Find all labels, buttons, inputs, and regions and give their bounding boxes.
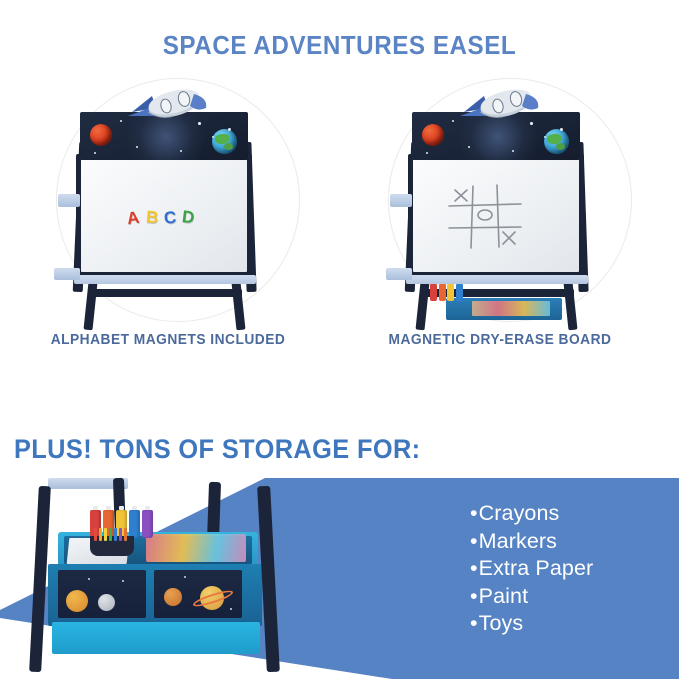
easel-hinge-lower [54, 268, 80, 280]
supplies-strip [472, 301, 550, 316]
storage-bin [154, 570, 242, 618]
bullet-icon: • [470, 611, 478, 635]
crayon [94, 528, 97, 541]
bullet-icon: • [470, 556, 478, 580]
star-icon [122, 580, 124, 582]
red-planet-icon [422, 124, 444, 146]
dry-erase-board: ABCD [81, 158, 247, 272]
star-icon [468, 146, 470, 148]
storage-items-list: •Crayons •Markers •Extra Paper •Paint •T… [470, 500, 679, 638]
dry-erase-board [413, 158, 579, 272]
table-lower-panel [52, 622, 260, 654]
list-item-label: Extra Paper [479, 556, 594, 580]
board-frame [408, 154, 584, 278]
list-item-label: Markers [479, 529, 557, 553]
crayon [119, 528, 122, 541]
star-icon [230, 608, 232, 610]
paint-bottles [430, 284, 464, 306]
magnet-letter: B [145, 207, 165, 229]
sticker-sheet [146, 534, 246, 562]
list-item: •Extra Paper [470, 555, 679, 583]
list-item-label: Crayons [479, 501, 560, 525]
storage-table-illustration [18, 472, 348, 679]
list-item-label: Toys [479, 611, 524, 635]
easel-crossbar [92, 289, 242, 297]
red-planet-icon [90, 124, 112, 146]
board-frame: ABCD [76, 154, 252, 278]
list-item-label: Paint [479, 584, 529, 608]
easel-hinge-lower [386, 268, 412, 280]
rocket-topper-icon [126, 82, 212, 126]
bullet-icon: • [470, 501, 478, 525]
easel-foot-left [416, 282, 430, 331]
list-item: •Paint [470, 583, 679, 611]
rocket-topper-icon [458, 82, 544, 126]
crayon [104, 528, 107, 541]
crayon [124, 528, 127, 541]
storage-bin [58, 570, 146, 618]
star-icon [512, 150, 514, 152]
easel-foot-right [564, 282, 578, 331]
star-icon [212, 136, 214, 138]
cratered-orange-planet-icon [66, 590, 88, 612]
easel-hinge-upper [390, 194, 412, 207]
marker-tray [74, 275, 256, 284]
magnet-letter: A [126, 207, 147, 229]
star-icon [452, 120, 454, 122]
alphabet-magnets: ABCD [81, 208, 247, 228]
easel-hinge-upper [58, 194, 80, 207]
star-icon [426, 152, 428, 154]
easel-foot-right [232, 282, 246, 331]
list-item: •Crayons [470, 500, 679, 528]
bullet-icon: • [470, 529, 478, 553]
feature-caption: ALPHABET MAGNETS INCLUDED [16, 332, 320, 348]
feature-dry-erase-board: MAGNETIC DRY-ERASE BOARD [340, 70, 660, 370]
star-icon [560, 128, 563, 131]
list-item: •Toys [470, 610, 679, 638]
star-icon [184, 576, 186, 578]
small-striped-planet-icon [164, 588, 182, 606]
bullet-icon: • [470, 584, 478, 608]
easel-illustration-left: ABCD [62, 84, 292, 319]
page-title: SPACE ADVENTURES EASEL [24, 30, 655, 61]
gray-moon-icon [98, 594, 115, 611]
star-icon [88, 578, 90, 580]
earth-planet-icon [212, 129, 237, 154]
crayon [114, 528, 117, 541]
storage-section-title: PLUS! TONS OF STORAGE FOR: [14, 434, 420, 465]
crayon [99, 528, 102, 541]
list-item: •Markers [470, 528, 679, 556]
feature-alphabet-magnets: ABCD ALPHABET MAGNETS INCLUDED [8, 70, 328, 370]
feature-caption: MAGNETIC DRY-ERASE BOARD [348, 332, 652, 348]
star-icon [120, 120, 122, 122]
easel-foot-left [84, 282, 98, 331]
marker-tray [406, 275, 588, 284]
star-icon [94, 152, 96, 154]
easel-illustration-right [394, 84, 624, 319]
crayon [109, 528, 112, 541]
earth-planet-icon [544, 129, 569, 154]
crayon-bowl [90, 536, 134, 556]
infographic-page: SPACE ADVENTURES EASEL [0, 0, 679, 679]
star-icon [180, 150, 182, 152]
tic-tac-toe-drawing [445, 182, 525, 252]
star-icon [544, 136, 546, 138]
star-icon [228, 128, 231, 131]
magnet-letter: D [181, 207, 202, 229]
star-icon [136, 146, 138, 148]
